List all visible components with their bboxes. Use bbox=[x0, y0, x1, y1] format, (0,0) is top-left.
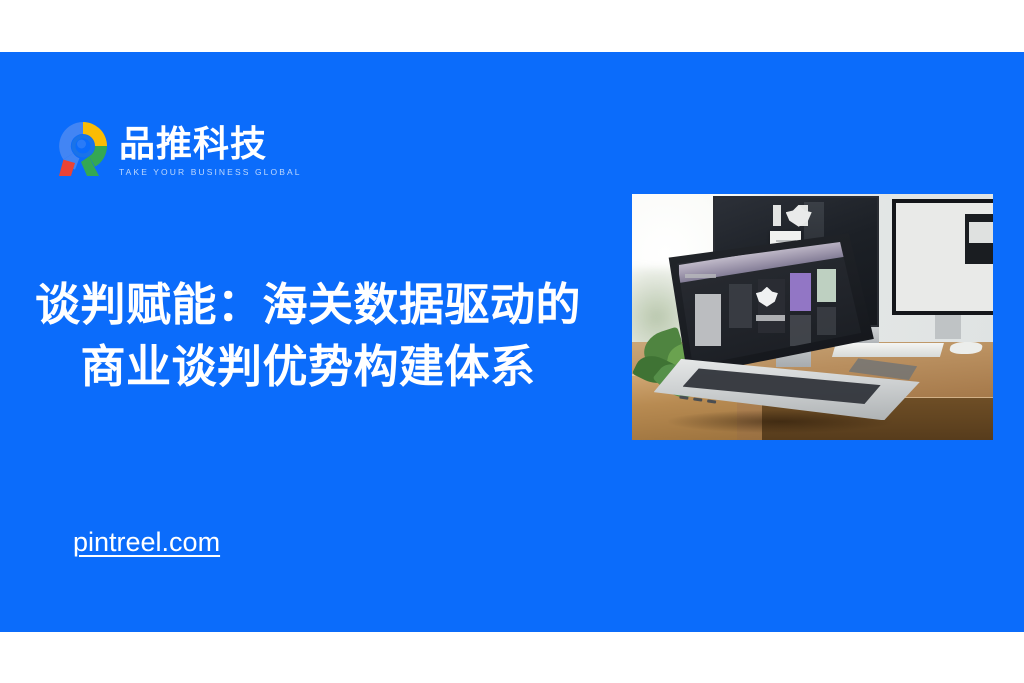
site-content-tile bbox=[695, 294, 722, 345]
site-content-tile bbox=[729, 284, 752, 327]
page-title: 谈判赋能：海关数据驱动的 商业谈判优势构建体系 bbox=[0, 274, 616, 398]
page-title-line-1: 谈判赋能：海关数据驱动的 bbox=[0, 274, 616, 336]
website-url-link[interactable]: pintreel.com bbox=[73, 526, 220, 558]
slide-frame: 品推科技 TAKE YOUR BUSINESS GLOBAL 谈判赋能：海关数据… bbox=[0, 0, 1024, 683]
wireless-keyboard bbox=[832, 343, 944, 357]
mouse bbox=[948, 342, 984, 354]
site-title-graphic bbox=[756, 315, 785, 321]
slide-canvas: 品推科技 TAKE YOUR BUSINESS GLOBAL 谈判赋能：海关数据… bbox=[0, 52, 1024, 632]
site-content-tile bbox=[817, 307, 836, 335]
site-heading-text bbox=[685, 274, 716, 278]
imac-light-window bbox=[965, 214, 993, 265]
imac-dark-thumbnail-left bbox=[773, 205, 781, 226]
hero-photo-scene bbox=[632, 194, 993, 440]
brand-name-cn: 品推科技 bbox=[119, 125, 302, 165]
pintreel-p-monogram-icon bbox=[55, 118, 111, 180]
site-content-tile bbox=[790, 315, 811, 346]
brand-wordmark: 品推科技 TAKE YOUR BUSINESS GLOBAL bbox=[119, 121, 302, 178]
brand-logo-lockup[interactable]: 品推科技 TAKE YOUR BUSINESS GLOBAL bbox=[55, 118, 302, 180]
imac-light-stand bbox=[935, 315, 960, 340]
page-title-line-2: 商业谈判优势构建体系 bbox=[0, 336, 616, 398]
site-content-tile bbox=[817, 269, 836, 302]
site-content-tile bbox=[758, 279, 785, 333]
site-content-tile bbox=[790, 273, 811, 311]
hero-photo bbox=[632, 194, 993, 440]
brand-tagline: TAKE YOUR BUSINESS GLOBAL bbox=[119, 166, 302, 178]
imac-monitor-light bbox=[892, 199, 993, 315]
